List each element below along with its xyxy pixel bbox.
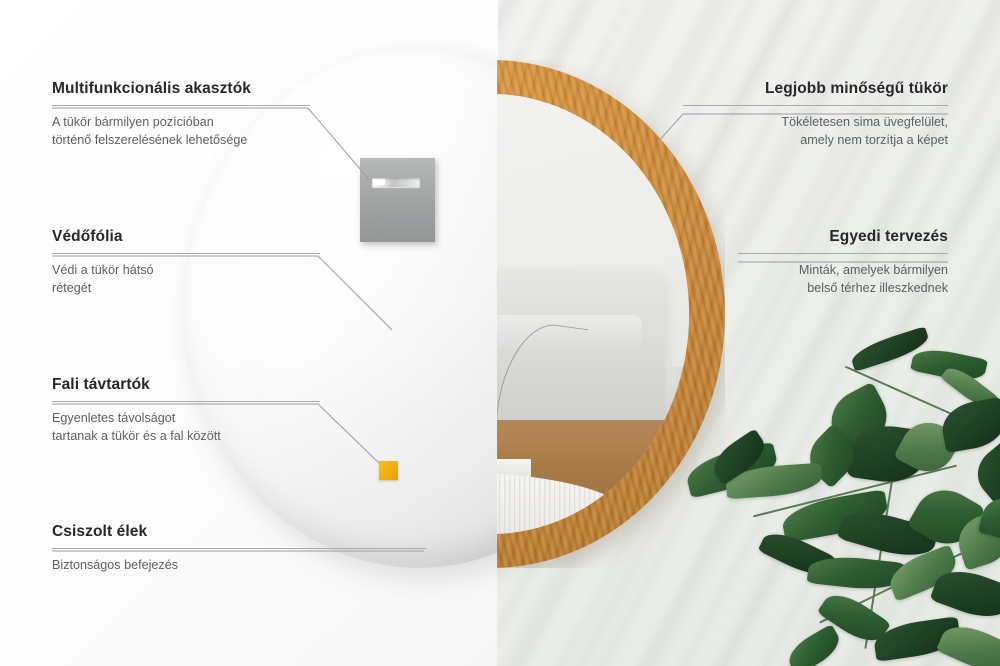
callout-legjobb-minosegu-tukor: Legjobb minőségű tükör Tökéletesen sima … (683, 80, 948, 150)
callout-rule (738, 253, 948, 254)
callout-title: Védőfólia (52, 228, 320, 246)
callout-rule (52, 105, 310, 106)
callout-description: Minták, amelyek bármilyen belső térhez i… (738, 262, 948, 298)
infographic-stage: Multifunkcionális akasztók A tükör bármi… (0, 0, 1000, 666)
callout-description: Biztonságos befejezés (52, 557, 426, 575)
callout-description: A tükör bármilyen pozícióban történő fel… (52, 114, 310, 150)
callout-title: Multifunkcionális akasztók (52, 80, 310, 98)
plant-leaf (938, 397, 1000, 453)
callout-description: Tökéletesen sima üvegfelület, amely nem … (683, 114, 948, 150)
callout-fali-tavtartok: Fali távtartók Egyenletes távolságot tar… (52, 376, 320, 446)
callout-description: Védi a tükör hátsó rétegét (52, 262, 320, 298)
mirror-glass-reflection (497, 94, 689, 534)
callout-title: Csiszolt élek (52, 523, 426, 541)
callout-rule (52, 253, 320, 254)
callout-vedofolia: Védőfólia Védi a tükör hátsó rétegét (52, 228, 320, 298)
callout-description: Egyenletes távolságot tartanak a tükör é… (52, 410, 320, 446)
hanger-plate (360, 158, 435, 242)
hanger-slot (372, 178, 420, 187)
callout-rule (52, 548, 426, 549)
callout-egyedi-tervezes: Egyedi tervezés Minták, amelyek bármilye… (738, 228, 948, 298)
callout-title: Fali távtartók (52, 376, 320, 394)
callout-title: Egyedi tervezés (738, 228, 948, 246)
callout-rule (52, 401, 320, 402)
plant-leaf (967, 440, 1000, 505)
foliage-decoration (690, 330, 1000, 666)
callout-rule (683, 105, 948, 106)
wall-spacer (379, 461, 398, 480)
callout-multifunkcionalis-akasztok: Multifunkcionális akasztók A tükör bármi… (52, 80, 310, 150)
callout-title: Legjobb minőségű tükör (683, 80, 948, 98)
plant-leaf (783, 624, 845, 666)
callout-csiszolt-elek: Csiszolt élek Biztonságos befejezés (52, 523, 426, 575)
